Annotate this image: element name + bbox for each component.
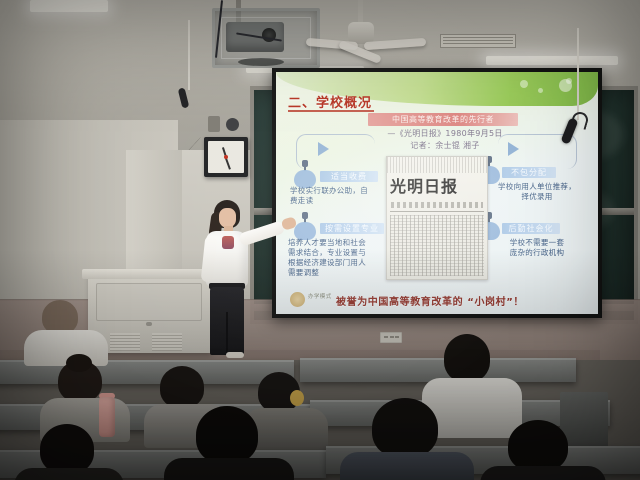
audience-head bbox=[508, 420, 568, 472]
point-body-3: 学校向用人单位推荐， 择优录用 bbox=[488, 182, 586, 202]
point-body-1-line: 学校实行联办公助，自 bbox=[290, 186, 382, 196]
audience-head bbox=[42, 300, 78, 334]
newspaper-top-rule bbox=[387, 157, 487, 173]
arrow-icon bbox=[318, 142, 329, 156]
audience-head bbox=[160, 366, 204, 408]
lectern-front-panel bbox=[96, 283, 202, 321]
point-tag-2: 按需设置专业 bbox=[320, 223, 384, 234]
audience-hair-tie-icon bbox=[290, 390, 304, 406]
point-tag-1-label: 适当收费 bbox=[320, 171, 378, 182]
slide-section-title: 二、学校概况 bbox=[288, 92, 372, 111]
presenter-face bbox=[219, 208, 236, 228]
hanging-microphone-wire bbox=[188, 20, 190, 90]
newspaper-masthead: 光明日报 bbox=[390, 173, 484, 199]
audience-head bbox=[372, 398, 438, 458]
point-tag-4: 后勤社会化 bbox=[502, 223, 560, 234]
ceiling-light bbox=[486, 56, 618, 65]
slide-decor-bubble bbox=[538, 88, 543, 93]
wall-socket bbox=[380, 332, 402, 343]
presenter-trouser-seam bbox=[226, 312, 228, 355]
ceiling-fan-rod bbox=[358, 0, 363, 24]
presentation-slide: 二、学校概况 中国高等教育改革的先行者 —《光明日报》1980年9月5日 记者：… bbox=[276, 72, 598, 314]
lectern-lock-icon bbox=[146, 322, 152, 326]
footer-small-label: 办学模式 bbox=[308, 292, 332, 300]
wall-sensor-icon bbox=[226, 118, 239, 131]
point-body-4: 学校不需要一套 庞杂的行政机构 bbox=[488, 238, 586, 258]
presenter bbox=[196, 200, 276, 360]
presenter-scarf bbox=[222, 236, 234, 249]
audience-hair-bun bbox=[66, 354, 92, 372]
slide-decor-bubble bbox=[566, 78, 572, 84]
point-tag-3: 不包分配 bbox=[502, 167, 556, 178]
point-tag-1: 适当收费 bbox=[320, 171, 378, 182]
newspaper-clipping: 光明日报 bbox=[386, 156, 488, 280]
wall-clock bbox=[204, 137, 248, 177]
point-body-2-line: 根据经济建设部门用人 bbox=[288, 258, 384, 268]
slide-title-underline bbox=[288, 110, 374, 112]
audience-head bbox=[196, 406, 258, 464]
point-tag-4-label: 后勤社会化 bbox=[502, 223, 560, 234]
thermos-bottle bbox=[99, 397, 115, 437]
point-body-2-line: 需求结合，专业设置与 bbox=[288, 248, 384, 258]
person-bullet-icon bbox=[294, 212, 316, 240]
point-body-2-line: 培养人才要当地和社会 bbox=[288, 238, 384, 248]
newspaper-subline bbox=[391, 202, 483, 208]
point-body-4-line: 学校不需要一套 bbox=[488, 238, 586, 248]
point-body-2-line: 需要调整 bbox=[288, 268, 384, 278]
point-body-2: 培养人才要当地和社会 需求结合，专业设置与 根据经济建设部门用人 需要调整 bbox=[288, 238, 384, 278]
seal-icon bbox=[290, 292, 305, 307]
audience-body bbox=[164, 458, 294, 480]
point-tag-3-label: 不包分配 bbox=[502, 167, 556, 178]
point-body-4-line: 庞杂的行政机构 bbox=[488, 248, 586, 258]
slide-decor-bubble bbox=[520, 80, 528, 88]
point-body-1: 学校实行联办公助，自 费走读 bbox=[290, 186, 382, 206]
audience-member bbox=[24, 300, 104, 362]
point-tag-2-label: 按需设置专业 bbox=[320, 223, 384, 234]
audience-body bbox=[340, 452, 474, 480]
ceiling-light bbox=[30, 0, 108, 12]
person-bullet-icon bbox=[294, 160, 316, 188]
point-body-3-line: 择优录用 bbox=[488, 192, 586, 202]
audience-member bbox=[174, 406, 284, 480]
screenshot-root: 二、学校概况 中国高等教育改革的先行者 —《光明日报》1980年9月5日 记者：… bbox=[0, 0, 640, 480]
slide-red-banner-label: 中国高等教育改革的先行者 bbox=[368, 113, 518, 126]
ceiling-vent bbox=[440, 34, 516, 48]
audience-body bbox=[480, 466, 606, 480]
audience-head bbox=[40, 424, 94, 474]
hanging-microphone-wire bbox=[577, 28, 579, 120]
lectern-vent bbox=[152, 333, 182, 351]
audience-body bbox=[14, 468, 124, 480]
lectern-vent bbox=[110, 333, 140, 351]
slide-red-banner: 中国高等教育改革的先行者 bbox=[368, 113, 518, 126]
point-body-3-line: 学校向用人单位推荐， bbox=[488, 182, 586, 192]
point-body-1-line: 费走读 bbox=[290, 196, 382, 206]
slide-footer-caption: 被誉为中国高等教育改革的 “小岗村”！ bbox=[336, 293, 524, 308]
newspaper-columns bbox=[390, 215, 484, 276]
newspaper-rule bbox=[390, 211, 484, 212]
projector-shadow bbox=[238, 58, 284, 66]
wall-speaker-box bbox=[208, 116, 220, 132]
projection-screen: 二、学校概况 中国高等教育改革的先行者 —《光明日报》1980年9月5日 记者：… bbox=[272, 68, 602, 318]
audience-member bbox=[352, 398, 462, 480]
arrow-icon bbox=[508, 142, 519, 156]
audience-member bbox=[490, 420, 596, 480]
lectern-top bbox=[82, 269, 214, 279]
presenter-shoe bbox=[226, 352, 244, 358]
